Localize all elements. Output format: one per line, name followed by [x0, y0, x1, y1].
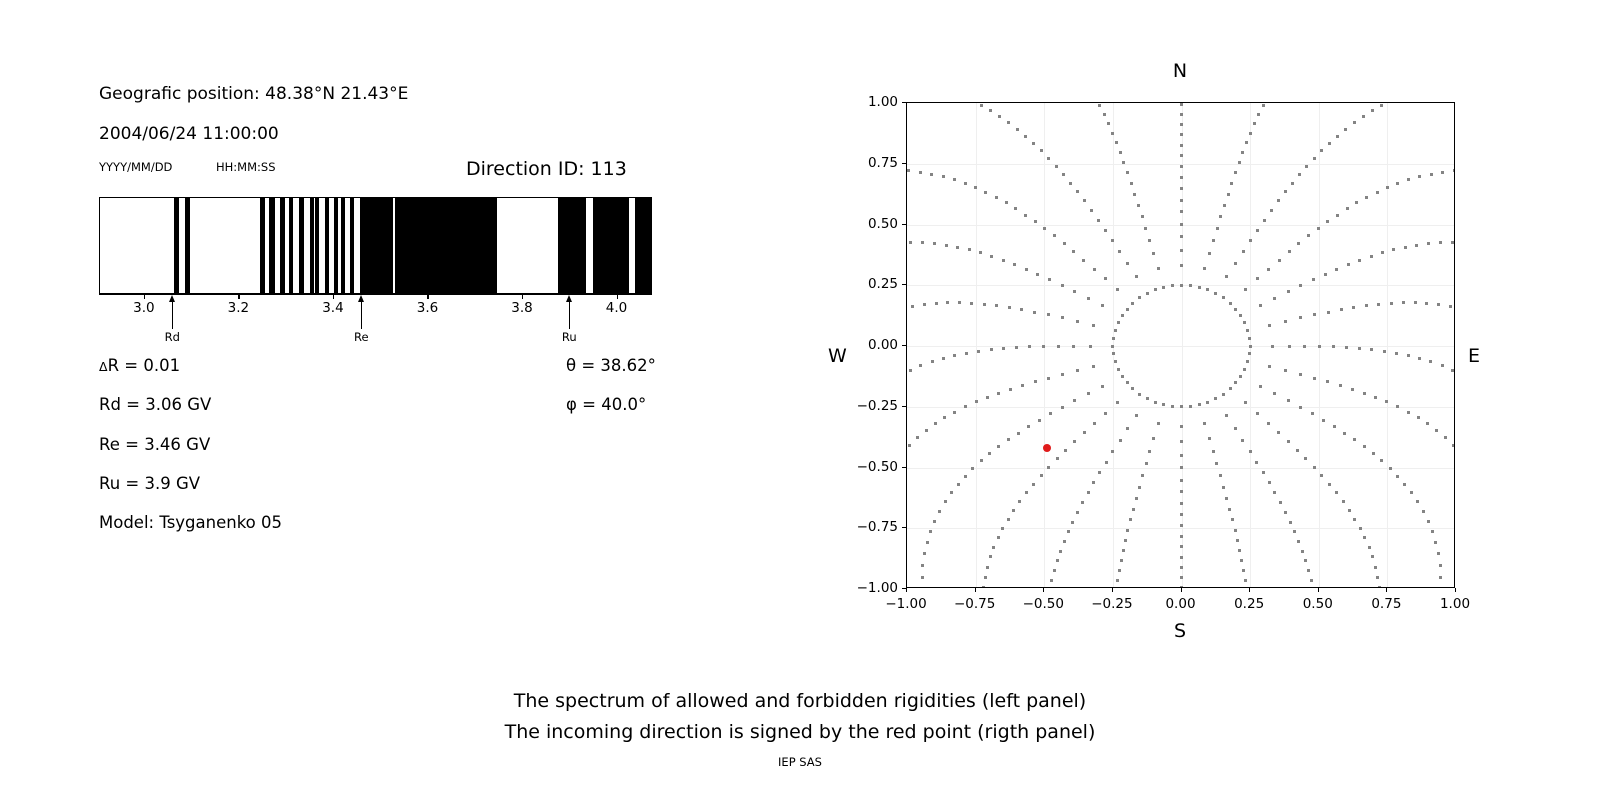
scatter-point: [1208, 437, 1211, 440]
scatter-point: [1112, 352, 1115, 355]
scatter-point: [1180, 103, 1183, 106]
scatter-point: [1214, 397, 1217, 400]
scatter-point: [1318, 345, 1321, 348]
scatter-point: [1076, 369, 1079, 372]
scatter-point: [1061, 406, 1064, 409]
scatter-point: [1025, 491, 1028, 494]
time-format-hint: HH:MM:SS: [216, 160, 276, 174]
scatter-point: [1092, 324, 1095, 327]
scatter-point: [919, 364, 922, 367]
scatter-point: [1032, 142, 1035, 145]
scatter-point: [1348, 509, 1351, 512]
scatter-point: [1219, 215, 1222, 218]
scatter-point: [1227, 193, 1230, 196]
scatter-point: [1299, 316, 1302, 319]
scatter-point: [953, 354, 956, 357]
scatter-point: [1104, 277, 1107, 280]
scatter-point: [1340, 308, 1343, 311]
scatter-point: [1135, 497, 1138, 500]
scatter-point: [1062, 173, 1065, 176]
scatter-point: [1135, 414, 1138, 417]
scatter-point: [1105, 461, 1108, 464]
scatter-point: [1344, 128, 1347, 131]
scatter-point: [933, 242, 936, 245]
scatter-point: [1249, 450, 1252, 453]
forbidden-band: [593, 198, 628, 293]
scatter-point: [1416, 500, 1419, 503]
scatter-point: [1430, 173, 1433, 176]
scatter-point: [1426, 422, 1429, 425]
scatter-point: [950, 491, 953, 494]
scatter-point: [1268, 324, 1271, 327]
scatter-point: [1396, 405, 1399, 408]
scatter-point: [1363, 445, 1366, 448]
scatter-point: [1083, 431, 1086, 434]
scatter-point: [1180, 210, 1183, 213]
scatter-point: [1122, 161, 1125, 164]
scatter-point: [1239, 314, 1242, 317]
scatter-point: [964, 405, 967, 408]
scatter-point: [1002, 347, 1005, 350]
x-axis-tick: [1181, 588, 1182, 592]
scatter-point: [997, 536, 1000, 539]
scatter-point: [1180, 545, 1183, 548]
scatter-point: [1126, 381, 1129, 384]
y-axis-tick: [902, 527, 906, 528]
scatter-point: [1157, 267, 1160, 270]
scatter-point: [1244, 288, 1247, 291]
scatter-point: [1351, 388, 1354, 391]
scatter-point: [1225, 414, 1228, 417]
scatter-point: [1310, 579, 1313, 582]
scatter-point: [1131, 387, 1134, 390]
scatter-point: [1053, 234, 1056, 237]
scatter-point: [1249, 239, 1252, 242]
scatter-point: [1352, 306, 1355, 309]
scatter-point: [1417, 416, 1420, 419]
scatter-point: [1145, 462, 1148, 465]
scatter-point: [1001, 527, 1004, 530]
scatter-point: [1225, 497, 1228, 500]
scatter-point: [1234, 529, 1237, 532]
scatter-point: [1034, 380, 1037, 383]
scatter-point: [1326, 380, 1329, 383]
scatter-point: [1131, 302, 1134, 305]
scatter-point: [1180, 144, 1183, 147]
scatter-point: [1444, 436, 1447, 439]
scatter-point: [1206, 401, 1209, 404]
scatter-point: [1135, 275, 1138, 278]
geographic-position-label: Geografic position: 48.38°N 21.43°E: [99, 84, 408, 104]
scatter-point: [1256, 229, 1259, 232]
y-axis-tick-label: −0.75: [848, 519, 898, 535]
scatter-point: [1117, 368, 1120, 371]
marker-label: Rd: [165, 330, 180, 344]
scatter-point: [1007, 518, 1010, 521]
scatter-point: [1061, 316, 1064, 319]
scatter-point: [1082, 259, 1085, 262]
scatter-point: [1180, 440, 1183, 443]
scatter-point: [1116, 579, 1119, 582]
scatter-point: [1118, 250, 1121, 253]
scatter-point: [1390, 302, 1393, 305]
scatter-point: [1439, 564, 1442, 567]
scatter-point: [1377, 303, 1380, 306]
scatter-point: [1259, 304, 1262, 307]
y-axis-tick-label: −1.00: [848, 580, 898, 596]
scatter-point: [1130, 182, 1133, 185]
scatter-point: [942, 357, 945, 360]
scatter-point: [1427, 242, 1430, 245]
scatter-point: [1307, 234, 1310, 237]
scatter-point: [988, 452, 991, 455]
scatter-point: [1298, 173, 1301, 176]
scatter-point: [964, 475, 967, 478]
scatter-point: [1087, 491, 1090, 494]
scatter-point: [1299, 406, 1302, 409]
figure-caption: The spectrum of allowed and forbidden ri…: [0, 686, 1600, 748]
scatter-point: [1180, 264, 1183, 267]
scatter-point: [1154, 288, 1157, 291]
scatter-point: [1115, 141, 1118, 144]
scatter-point: [919, 171, 922, 174]
y-axis-tick: [902, 467, 906, 468]
scatter-point: [1087, 392, 1090, 395]
scatter-point: [1118, 569, 1121, 572]
scatter-point: [946, 301, 949, 304]
scatter-point: [1234, 262, 1237, 265]
y-axis-tick: [902, 224, 906, 225]
scatter-point: [1346, 207, 1349, 210]
scatter-point: [1036, 273, 1039, 276]
scatter-point: [1284, 369, 1287, 372]
scatter-point: [1120, 559, 1123, 562]
scatter-point: [944, 500, 947, 503]
scatter-point: [1303, 345, 1306, 348]
scatter-point: [1441, 364, 1444, 367]
scatter-point: [1414, 301, 1417, 304]
scatter-point: [1014, 207, 1017, 210]
scatter-point: [1304, 559, 1307, 562]
y-axis-tick-label: 0.50: [848, 216, 898, 232]
marker-label: Ru: [562, 330, 577, 344]
x-axis-tick-label: 0.50: [1303, 596, 1333, 612]
scatter-point: [1248, 337, 1251, 340]
scatter-point: [986, 396, 989, 399]
scatter-point: [916, 436, 919, 439]
scatter-point: [974, 186, 977, 189]
scatter-point: [979, 251, 982, 254]
scatter-point: [1368, 546, 1371, 549]
scatter-point: [1242, 569, 1245, 572]
scatter-point: [1122, 549, 1125, 552]
scatter-point: [1241, 439, 1244, 442]
scatter-point: [1154, 401, 1157, 404]
scatter-point: [1268, 481, 1271, 484]
forbidden-band: [334, 198, 338, 293]
x-axis-tick-label: −0.25: [1091, 596, 1132, 612]
scatter-point: [1148, 239, 1151, 242]
scatter-point: [1219, 474, 1222, 477]
scatter-point: [1370, 348, 1373, 351]
scatter-point: [984, 191, 987, 194]
scatter-point: [1111, 239, 1114, 242]
scatter-point: [958, 301, 961, 304]
scatter-point: [1180, 235, 1183, 238]
scatter-point: [923, 552, 926, 555]
x-axis-tick: [1455, 588, 1456, 592]
scatter-point: [1206, 288, 1209, 291]
y-axis-tick-label: 0.00: [848, 337, 898, 353]
scatter-point: [1297, 242, 1300, 245]
scatter-point: [986, 566, 989, 569]
scatter-point: [1284, 320, 1287, 323]
scatter-point: [1299, 373, 1302, 376]
scatter-point: [1403, 483, 1406, 486]
scatter-point: [1148, 450, 1151, 453]
scatter-point: [1407, 411, 1410, 414]
scatter-point: [1307, 569, 1310, 572]
scatter-point: [1180, 176, 1183, 179]
rigidity-spectrum-panel: Geografic position: 48.38°N 21.43°E 2004…: [0, 0, 800, 680]
scatter-point: [921, 241, 924, 244]
scatter-point: [1333, 425, 1336, 428]
scatter-point: [1385, 400, 1388, 403]
datetime-label: 2004/06/24 11:00:00: [99, 124, 279, 144]
scatter-point: [1097, 219, 1100, 222]
scatter-point: [1249, 345, 1252, 348]
scatter-point: [1328, 483, 1331, 486]
scatter-point: [1358, 347, 1361, 350]
scatter-point: [1259, 385, 1262, 388]
scatter-point: [1002, 259, 1005, 262]
scatter-point: [1024, 214, 1027, 217]
scatter-point: [990, 255, 993, 258]
scatter-point: [1076, 190, 1079, 193]
compass-north-label: N: [1173, 60, 1187, 82]
scatter-point: [1180, 479, 1183, 482]
scatter-point: [997, 392, 1000, 395]
scatter-point: [1327, 311, 1330, 314]
scatter-point: [1137, 204, 1140, 207]
scatter-point: [1208, 252, 1211, 255]
scatter-point: [1076, 320, 1079, 323]
scatter-point: [1027, 425, 1030, 428]
scatter-point: [1273, 491, 1276, 494]
scatter-point: [1245, 141, 1248, 144]
scatter-point: [1038, 419, 1041, 422]
scatter-point: [1180, 284, 1183, 287]
x-axis-tick: [1386, 588, 1387, 592]
scatter-point: [1012, 509, 1015, 512]
x-axis-tick: [906, 588, 907, 592]
scatter-point: [934, 422, 937, 425]
footer-label: IEP SAS: [0, 755, 1600, 769]
scatter-point: [1053, 569, 1056, 572]
scatter-point: [1180, 249, 1183, 252]
forbidden-band: [635, 198, 652, 293]
x-axis-tick-label: −1.00: [885, 596, 926, 612]
scatter-point: [1336, 214, 1339, 217]
scatter-point: [1111, 450, 1114, 453]
scatter-point: [1081, 501, 1084, 504]
scatter-point: [1067, 530, 1070, 533]
scatter-point: [1180, 165, 1183, 168]
forbidden-band: [395, 198, 497, 293]
scatter-point: [1093, 268, 1096, 271]
scatter-point: [1146, 292, 1149, 295]
scatter-point: [1162, 286, 1165, 289]
scatter-point: [1198, 286, 1201, 289]
scatter-point: [1055, 165, 1058, 168]
scatter-point: [1313, 377, 1316, 380]
scatter-point: [1376, 191, 1379, 194]
scatter-point: [1076, 511, 1079, 514]
scatter-point: [1020, 308, 1023, 311]
scatter-point: [998, 115, 1001, 118]
forbidden-band: [185, 198, 190, 293]
scatter-point: [1121, 375, 1124, 378]
scatter-point: [1144, 227, 1147, 230]
y-axis-tick: [902, 102, 906, 103]
x-axis-tick: [975, 588, 976, 592]
x-axis-tick: [1112, 588, 1113, 592]
param-rd: Rd = 3.06 GV: [99, 395, 211, 414]
scatter-point: [933, 520, 936, 523]
scatter-point: [1222, 393, 1225, 396]
scatter-point: [1243, 321, 1246, 324]
scatter-point: [1180, 556, 1183, 559]
scatter-point: [953, 178, 956, 181]
scatter-point: [1234, 171, 1237, 174]
caption-line-2: The incoming direction is signed by the …: [0, 717, 1600, 748]
scatter-point: [1034, 220, 1037, 223]
scatter-point: [1180, 466, 1183, 469]
scatter-point: [1073, 399, 1076, 402]
scatter-point: [1284, 190, 1287, 193]
gridline-horizontal: [907, 346, 1454, 347]
scatter-point: [925, 429, 928, 432]
scatter-point: [1089, 345, 1092, 348]
scatter-point: [971, 467, 974, 470]
scatter-point: [1246, 329, 1249, 332]
scatter-point: [1441, 171, 1444, 174]
scatter-point: [1114, 329, 1117, 332]
scatter-point: [1256, 277, 1259, 280]
scatter-point: [1180, 524, 1183, 527]
scatter-point: [1056, 457, 1059, 460]
scatter-point: [907, 169, 910, 172]
y-axis-tick: [902, 345, 906, 346]
scatter-point: [1231, 518, 1234, 521]
scatter-point: [1129, 518, 1132, 521]
scatter-point: [1180, 454, 1183, 457]
scatter-point: [926, 541, 929, 544]
x-axis-tick-label: 1.00: [1440, 596, 1470, 612]
scatter-point: [1243, 368, 1246, 371]
scatter-point: [1241, 151, 1244, 154]
forbidden-band: [280, 198, 285, 293]
scatter-point: [1229, 302, 1232, 305]
scatter-point: [1222, 296, 1225, 299]
scatter-point: [1229, 387, 1232, 390]
scatter-point: [983, 303, 986, 306]
scatter-point: [1452, 444, 1455, 447]
scatter-point: [1277, 199, 1280, 202]
scatter-point: [1117, 321, 1120, 324]
scatter-point: [1092, 365, 1095, 368]
scatter-point: [1198, 403, 1201, 406]
scatter-point: [1335, 491, 1338, 494]
scatter-point: [1301, 550, 1304, 553]
scatter-point: [1246, 360, 1249, 363]
scatter-point: [1180, 490, 1183, 493]
forbidden-band: [350, 198, 355, 293]
scatter-point: [1133, 193, 1136, 196]
x-axis-tick: [1318, 588, 1319, 592]
delta-symbol: Δ: [99, 359, 108, 374]
scatter-point: [1370, 255, 1373, 258]
scatter-point: [1339, 384, 1342, 387]
direction-map-panel: N S W E −1.00−0.75−0.50−0.250.000.250.50…: [820, 40, 1520, 660]
scatter-point: [1383, 350, 1386, 353]
scatter-point: [1268, 365, 1271, 368]
scatter-point: [956, 246, 959, 249]
scatter-point: [1215, 462, 1218, 465]
forbidden-band: [269, 198, 275, 293]
scatter-point: [1018, 500, 1021, 503]
scatter-point: [1256, 412, 1259, 415]
marker-label: Re: [354, 330, 369, 344]
scatter-point: [1017, 432, 1020, 435]
scatter-point: [1007, 121, 1010, 124]
scatter-point: [1098, 471, 1101, 474]
scatter-point: [1437, 552, 1440, 555]
scatter-point: [909, 369, 912, 372]
scatter-point: [1101, 385, 1104, 388]
scatter-point: [970, 302, 973, 305]
scatter-point: [1180, 187, 1183, 190]
scatter-point: [1180, 223, 1183, 226]
scatter-point: [1287, 399, 1290, 402]
scatter-point: [982, 586, 985, 588]
compass-south-label: S: [1174, 620, 1186, 642]
forbidden-band: [558, 198, 585, 293]
scatter-point: [1063, 540, 1066, 543]
scatter-point: [965, 352, 968, 355]
scatter-point: [945, 244, 948, 247]
scatter-point: [1362, 115, 1365, 118]
scatter-point: [1104, 229, 1107, 232]
scatter-point: [1317, 227, 1320, 230]
scatter-point: [1353, 518, 1356, 521]
scatter-point: [1203, 422, 1206, 425]
scatter-point: [1236, 539, 1239, 542]
forbidden-band: [310, 198, 314, 293]
scatter-point: [1064, 449, 1067, 452]
scatter-point: [1244, 401, 1247, 404]
scatter-point: [1059, 550, 1062, 553]
scatter-point: [1248, 352, 1251, 355]
scatter-point: [1279, 501, 1282, 504]
scatter-point: [1216, 227, 1219, 230]
scatter-point: [1439, 241, 1442, 244]
scatter-point: [1180, 513, 1183, 516]
scatter-point: [921, 576, 924, 579]
arrow-shaft: [172, 300, 173, 329]
scatter-point: [1180, 576, 1183, 579]
scatter-point: [1111, 345, 1114, 348]
